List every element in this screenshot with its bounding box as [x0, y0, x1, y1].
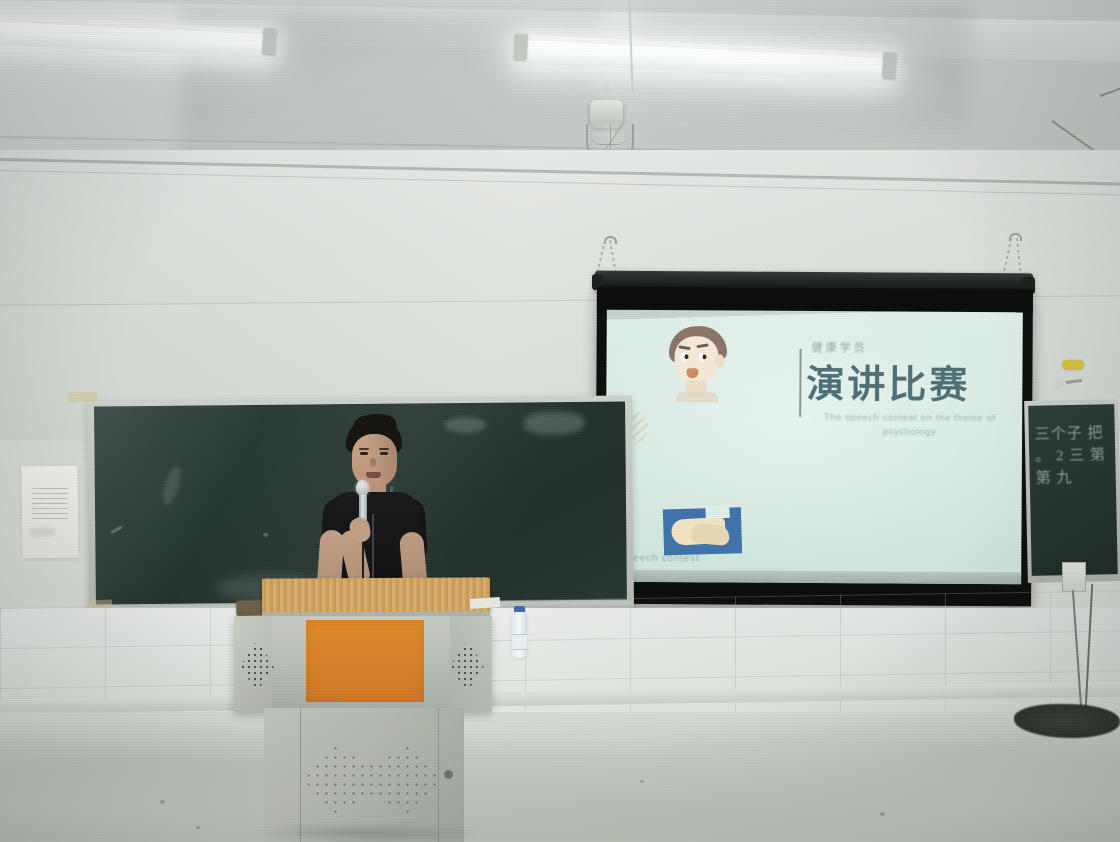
- blackboard-right-surface: 三个子 把 。 2 三 第 第 九: [1028, 404, 1118, 576]
- notice-text-lines: [32, 488, 68, 522]
- podium-floor-shadow: [250, 824, 486, 842]
- bottle-label: [512, 634, 527, 650]
- light-cap-icon: [882, 52, 896, 79]
- cartoon-pupil: [685, 354, 689, 359]
- podium-door-knob[interactable]: [444, 770, 453, 779]
- cartoon-pupil: [703, 354, 707, 359]
- classroom-photo: 健康学员 演讲比赛 The speech contest on the them…: [0, 0, 1120, 842]
- podium-orange-panel: [306, 620, 424, 702]
- podium-paper: [470, 597, 501, 609]
- floor-speck: [880, 812, 885, 816]
- floor-texture: [0, 712, 1120, 842]
- screen-bottom-strip: [605, 570, 1021, 585]
- cartoon-shirt: [676, 392, 718, 402]
- slide-surface: 健康学员 演讲比赛 The speech contest on the them…: [605, 310, 1023, 585]
- hair-tuft: [354, 413, 397, 433]
- mouth: [366, 472, 381, 478]
- projector-screen: 健康学员 演讲比赛 The speech contest on the them…: [595, 287, 1033, 607]
- podium-wooden-top: [262, 577, 490, 614]
- podium-body: [234, 616, 492, 712]
- eyebrow: [359, 448, 369, 450]
- chalk-smudge: [524, 412, 584, 435]
- cartoon-ear: [714, 354, 724, 367]
- wall-power-outlet[interactable]: [1062, 562, 1086, 592]
- blackboard-chinese-writing: 三个子 把 。 2 三 第 第 九: [1035, 422, 1116, 490]
- podium-base-seam: [438, 708, 439, 842]
- wall-notice-paper: [21, 466, 78, 559]
- podium-base-seam: [300, 708, 301, 842]
- handshake-notch: [705, 506, 730, 519]
- eye: [380, 452, 388, 455]
- slide-divider: [799, 349, 801, 417]
- eyebrow: [379, 448, 389, 450]
- microphone-head: [356, 480, 369, 495]
- notice-smudge: [30, 528, 54, 536]
- water-bottle: [512, 612, 527, 658]
- eye: [360, 452, 368, 455]
- floor-speck: [196, 826, 200, 829]
- slide-subtitle: The speech contest on the theme of psych…: [802, 411, 1017, 440]
- wall-sticker: [1062, 360, 1084, 370]
- light-cap-icon: [262, 28, 276, 55]
- cartoon-face: [674, 336, 718, 384]
- chalk-mark: [263, 533, 268, 537]
- blackboard-right-panel: 三个子 把 。 2 三 第 第 九: [1024, 399, 1120, 583]
- light-cap-icon: [514, 33, 528, 60]
- floor-speck: [160, 800, 165, 804]
- slide-title: 演讲比赛: [806, 353, 1021, 409]
- nose: [370, 458, 376, 467]
- wall-tape-mark: [68, 391, 98, 402]
- floor-speck: [640, 780, 644, 783]
